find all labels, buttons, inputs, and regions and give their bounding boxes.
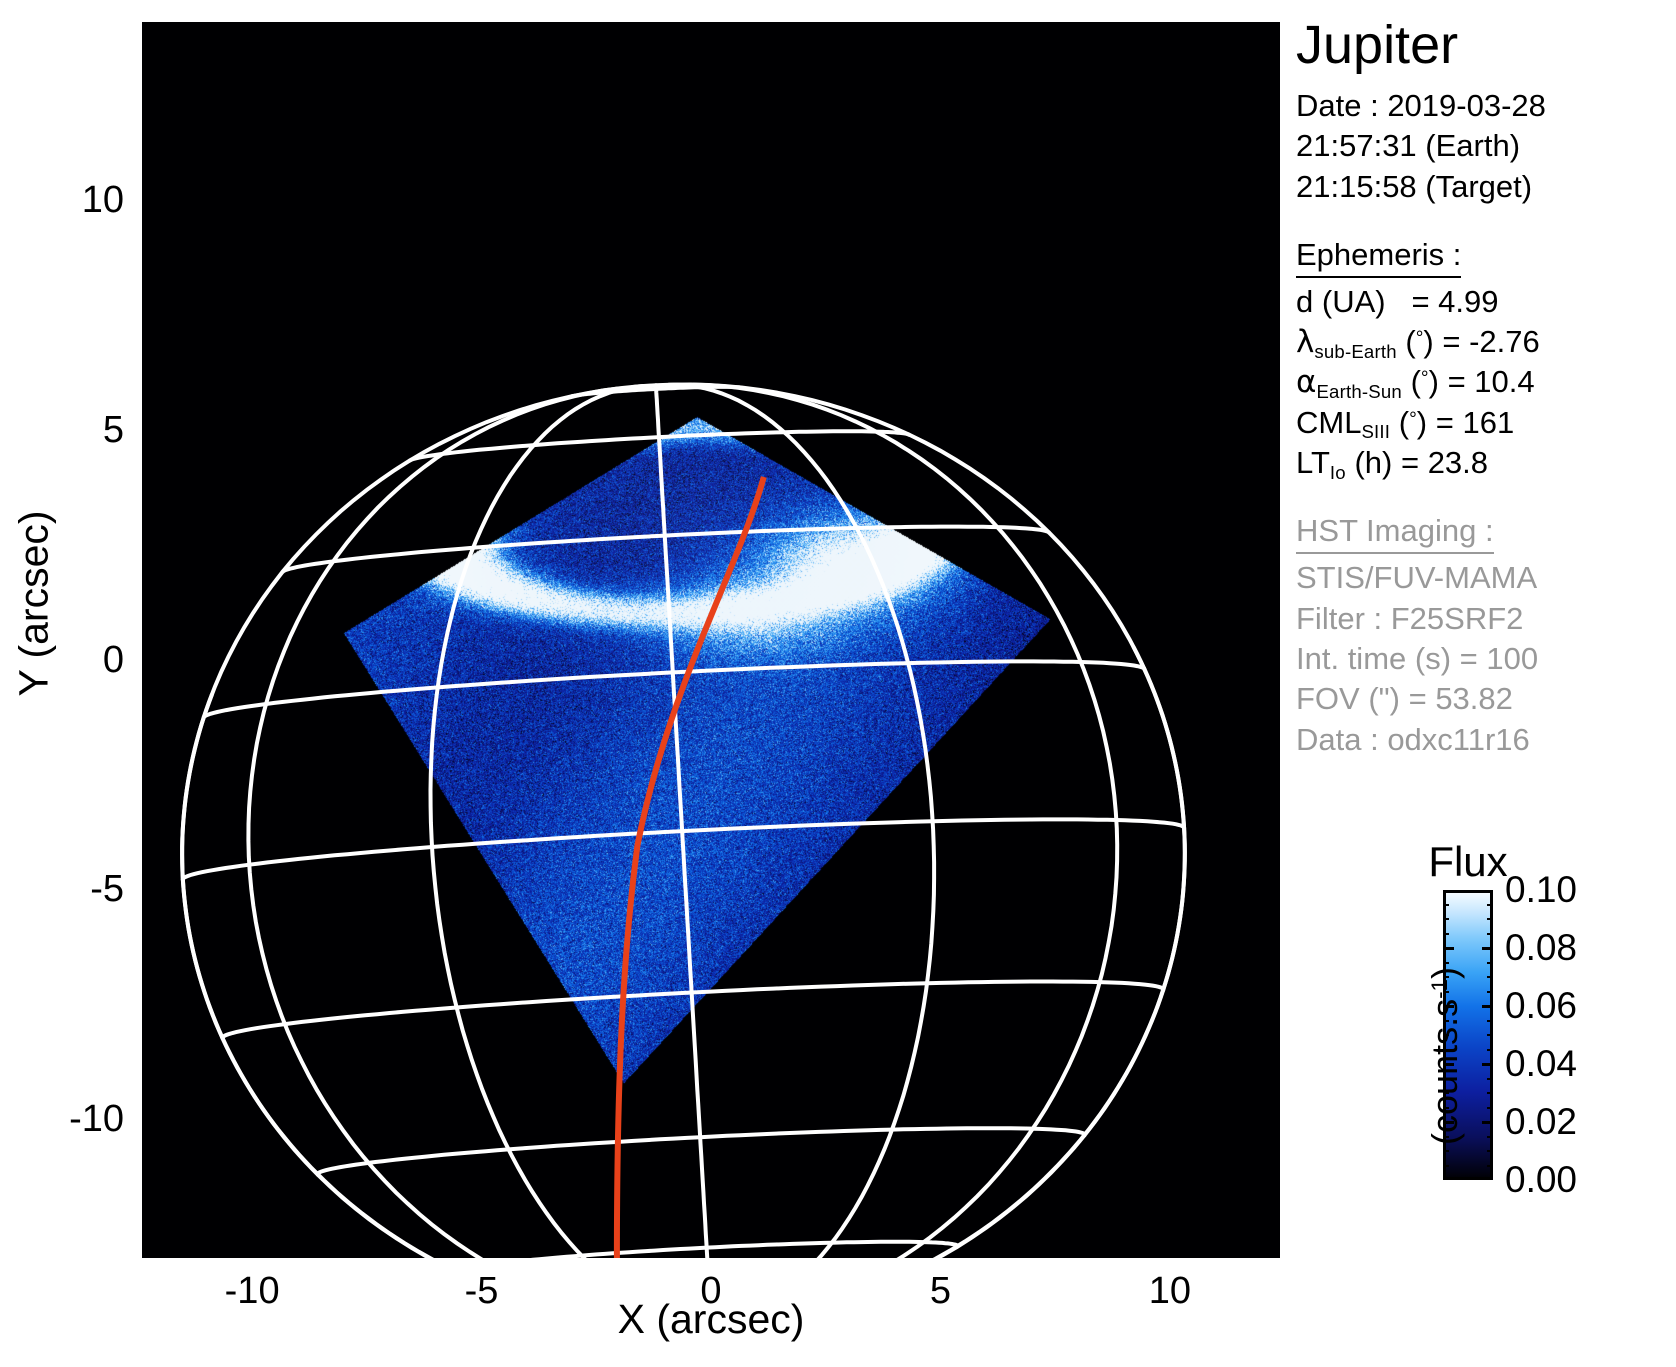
- ephemeris-value: 161: [1462, 405, 1514, 440]
- ephemeris-unit: (UA): [1322, 284, 1386, 319]
- ephemeris-equals: =: [1442, 324, 1460, 359]
- colorbar-tick-label: 0.10: [1505, 869, 1577, 911]
- hst-data-id: Data : odxc11r16: [1296, 720, 1676, 760]
- y-tick-label: 5: [14, 409, 124, 452]
- observation-date: Date : 2019-03-28: [1296, 86, 1676, 126]
- x-axis-title: X (arcsec): [142, 1296, 1280, 1343]
- ephemeris-symbol: LT: [1296, 445, 1330, 480]
- ephemeris-heading: Ephemeris :: [1296, 237, 1461, 278]
- ephemeris-value: 4.99: [1438, 284, 1498, 319]
- colorbar-tick-label: 0.04: [1505, 1043, 1577, 1085]
- ephemeris-subscript: Io: [1330, 462, 1346, 483]
- ephemeris-unit: (h): [1354, 445, 1392, 480]
- ephemeris-row: CMLSIII (°) = 161: [1296, 403, 1676, 443]
- colorbar-tick-label: 0.02: [1505, 1101, 1577, 1143]
- colorbar-minor-tick: [1487, 904, 1493, 906]
- hst-instrument: STIS/FUV-MAMA: [1296, 558, 1676, 598]
- colorbar-major-tick: [1482, 947, 1493, 950]
- colorbar-minor-tick: [1487, 1078, 1493, 1080]
- colorbar-tick-label: 0.08: [1505, 927, 1577, 969]
- colorbar-minor-tick: [1487, 991, 1493, 993]
- colorbar-unit-close: ): [1424, 967, 1465, 979]
- colorbar-tick-label: 0.06: [1505, 985, 1577, 1027]
- observation-date-block: Date : 2019-03-28 21:57:31 (Earth) 21:15…: [1296, 86, 1676, 207]
- ephemeris-subscript: SIII: [1361, 421, 1390, 442]
- hst-imaging-heading: HST Imaging :: [1296, 513, 1494, 554]
- ephemeris-value: -2.76: [1469, 324, 1540, 359]
- colorbar-minor-tick: [1487, 918, 1493, 920]
- colorbar-unit-text: (counts.s: [1424, 999, 1465, 1145]
- y-tick-label: -10: [14, 1098, 124, 1141]
- ephemeris-subscript: sub-Earth: [1314, 341, 1396, 362]
- sky-image-plot: [142, 22, 1280, 1258]
- ephemeris-symbol: α: [1296, 364, 1316, 400]
- ephemeris-equals: =: [1436, 405, 1454, 440]
- ephemeris-unit: (°): [1405, 324, 1433, 359]
- colorbar-minor-tick: [1487, 1107, 1493, 1109]
- hst-imaging-section: HST Imaging : STIS/FUV-MAMA Filter : F25…: [1296, 483, 1676, 759]
- colorbar-unit-exponent: -1: [1427, 979, 1452, 999]
- ephemeris-value: 10.4: [1474, 364, 1534, 399]
- hst-int-time: Int. time (s) = 100: [1296, 639, 1676, 679]
- hst-imaging-rows: STIS/FUV-MAMA Filter : F25SRF2 Int. time…: [1296, 558, 1676, 759]
- colorbar-minor-tick: [1487, 1049, 1493, 1051]
- ephemeris-section: Ephemeris : d (UA) = 4.99λsub-Earth (°) …: [1296, 207, 1676, 483]
- colorbar-minor-tick: [1487, 1136, 1493, 1138]
- colorbar-minor-tick: [1487, 1092, 1493, 1094]
- observation-time-earth: 21:57:31 (Earth): [1296, 126, 1676, 166]
- ephemeris-equals: =: [1401, 445, 1419, 480]
- y-tick-label: -5: [14, 868, 124, 911]
- ephemeris-symbol: λ: [1296, 324, 1314, 360]
- ephemeris-row: λsub-Earth (°) = -2.76: [1296, 322, 1676, 362]
- colorbar-major-tick: [1482, 1121, 1493, 1124]
- colorbar-minor-tick: [1487, 1020, 1493, 1022]
- target-title: Jupiter: [1296, 18, 1676, 72]
- colorbar-major-tick: [1482, 1005, 1493, 1008]
- ephemeris-row: LTIo (h) = 23.8: [1296, 443, 1676, 483]
- colorbar-major-tick: [1443, 890, 1454, 893]
- info-panel: Jupiter Date : 2019-03-28 21:57:31 (Eart…: [1296, 0, 1676, 760]
- ephemeris-subscript: Earth-Sun: [1316, 381, 1402, 402]
- ephemeris-symbol: CML: [1296, 405, 1361, 440]
- colorbar-minor-tick: [1487, 933, 1493, 935]
- hst-fov: FOV (") = 53.82: [1296, 679, 1676, 719]
- ephemeris-symbol: d: [1296, 284, 1313, 319]
- colorbar-tick-label: 0.00: [1505, 1159, 1577, 1201]
- ephemeris-unit: (°): [1399, 405, 1427, 440]
- y-axis-title: Y (arcsec): [11, 454, 58, 754]
- ephemeris-rows: d (UA) = 4.99λsub-Earth (°) = -2.76αEart…: [1296, 282, 1676, 483]
- observation-time-target: 21:15:58 (Target): [1296, 167, 1676, 207]
- colorbar-major-tick: [1482, 890, 1493, 893]
- y-tick-label: 10: [14, 179, 124, 222]
- colorbar-minor-tick: [1487, 1150, 1493, 1152]
- ephemeris-equals: =: [1411, 284, 1429, 319]
- colorbar-minor-tick: [1487, 962, 1493, 964]
- ephemeris-equals: =: [1448, 364, 1466, 399]
- ephemeris-unit: (°): [1411, 364, 1439, 399]
- hst-filter: Filter : F25SRF2: [1296, 599, 1676, 639]
- figure-root: 1050-5-10 -10-50510 X (arcsec) Y (arcsec…: [0, 0, 1676, 1367]
- colorbar-major-tick: [1482, 1177, 1493, 1180]
- ephemeris-row: αEarth-Sun (°) = 10.4: [1296, 362, 1676, 402]
- colorbar-unit-label: (counts.s-1): [1424, 906, 1466, 1206]
- colorbar-minor-tick: [1487, 1034, 1493, 1036]
- ephemeris-row: d (UA) = 4.99: [1296, 282, 1676, 322]
- ephemeris-value: 23.8: [1428, 445, 1488, 480]
- colorbar-minor-tick: [1487, 1165, 1493, 1167]
- colorbar-major-tick: [1482, 1063, 1493, 1066]
- jupiter-fuv-image: [142, 22, 1280, 1258]
- colorbar-minor-tick: [1487, 976, 1493, 978]
